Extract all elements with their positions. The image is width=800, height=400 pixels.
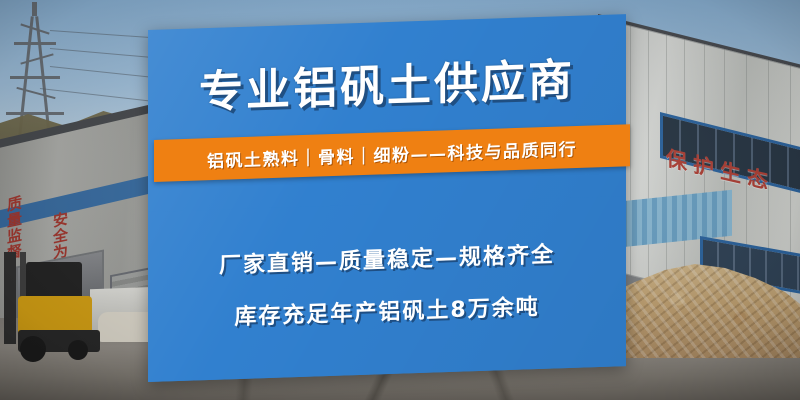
forklift-mast	[4, 252, 16, 344]
sub-headline-2: 库存充足年产铝矾土8万余吨	[148, 286, 626, 334]
sub-headline-group: 厂家直销—质量稳定—规格齐全 库存充足年产铝矾土8万余吨	[148, 234, 626, 354]
forklift-wheel	[68, 340, 88, 360]
banner-stage: 保护生态 质量监督 安全为首 专业铝矾土供应商	[0, 0, 800, 400]
promo-panel: 专业铝矾土供应商 铝矾土熟料｜骨料｜细粉——科技与品质同行 厂家直销—质量稳定—…	[148, 0, 630, 400]
forklift-wheel	[20, 336, 46, 362]
tagline-text: 铝矾土熟料｜骨料｜细粉——科技与品质同行	[207, 134, 577, 171]
